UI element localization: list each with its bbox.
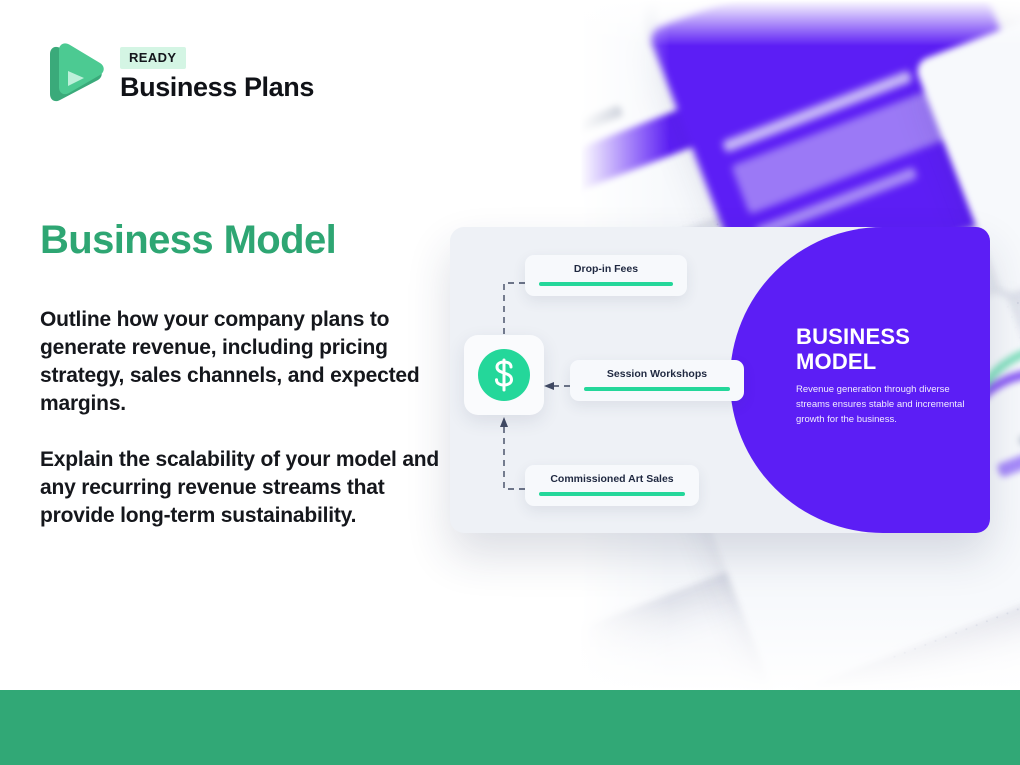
revenue-hub-node[interactable] bbox=[464, 335, 544, 415]
body-copy: Outline how your company plans to genera… bbox=[40, 306, 440, 529]
revenue-stream-card[interactable]: Drop-in Fees bbox=[525, 255, 687, 296]
slide-preview-card[interactable]: Drop-in Fees Session Workshops Commissio… bbox=[450, 227, 990, 533]
revenue-stream-card[interactable]: Session Workshops bbox=[570, 360, 744, 401]
brand-lockup[interactable]: READY Business Plans bbox=[40, 38, 314, 112]
slide-canvas: Drop-in Fees Session Workshops Commissio… bbox=[0, 0, 1020, 765]
body-paragraph-2: Explain the scalability of your model an… bbox=[40, 446, 440, 530]
play-triangle-logo bbox=[40, 38, 106, 112]
revenue-stream-card[interactable]: Commissioned Art Sales bbox=[525, 465, 699, 506]
revenue-stream-label: Session Workshops bbox=[584, 368, 730, 380]
body-paragraph-1: Outline how your company plans to genera… bbox=[40, 306, 440, 418]
accent-rule bbox=[539, 492, 685, 496]
dollar-sign-icon bbox=[478, 349, 530, 401]
edge-fade bbox=[580, 602, 1020, 692]
edge-fade bbox=[580, 0, 1020, 46]
page-title: Business Model bbox=[40, 218, 336, 263]
accent-rule bbox=[539, 282, 673, 286]
brand-name: Business Plans bbox=[120, 73, 314, 103]
accent-rule bbox=[584, 387, 730, 391]
footer-bar bbox=[0, 690, 1020, 765]
revenue-stream-label: Drop-in Fees bbox=[539, 263, 673, 275]
revenue-stream-label: Commissioned Art Sales bbox=[539, 473, 685, 485]
ready-badge: READY bbox=[120, 47, 186, 69]
